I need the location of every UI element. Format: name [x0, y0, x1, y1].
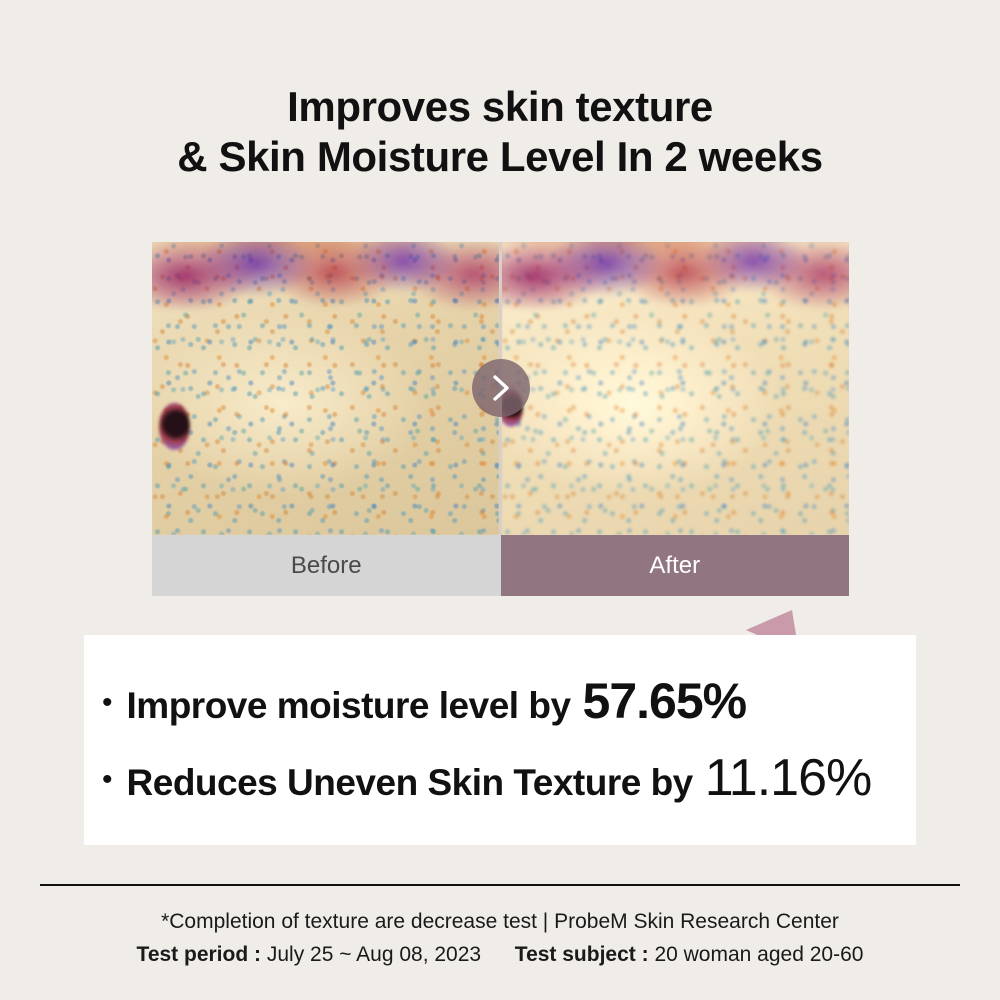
claim-value-texture: 11.16% [705, 748, 872, 808]
comparison-labels: Before After [152, 535, 849, 596]
page-title: Improves skin texture & Skin Moisture Le… [0, 82, 1000, 181]
footer: *Completion of texture are decrease test… [0, 906, 1000, 971]
footer-test-details: Test period : July 25 ~ Aug 08, 2023 Tes… [0, 938, 1000, 972]
claim-row-moisture: • Improve moisture level by 57.65% [102, 672, 916, 730]
claim-row-texture: • Reduces Uneven Skin Texture by 11.16% [102, 748, 916, 808]
before-after-comparison: Before After [152, 242, 849, 596]
after-photo [502, 242, 849, 535]
test-subject-label: Test subject : [515, 943, 649, 966]
claims-card: • Improve moisture level by 57.65% • Red… [84, 635, 916, 845]
footer-disclaimer: *Completion of texture are decrease test… [0, 906, 1000, 938]
test-period-label: Test period : [137, 943, 261, 966]
skin-pore-before [159, 403, 190, 450]
skin-vessel-band-before [152, 242, 502, 309]
test-subject-value: 20 woman aged 20-60 [654, 943, 863, 966]
claim-bullet: • [102, 765, 113, 795]
footer-divider [40, 884, 960, 886]
test-period-value: July 25 ~ Aug 08, 2023 [267, 943, 481, 966]
claim-label-texture: Reduces Uneven Skin Texture by [127, 762, 693, 804]
claim-value-moisture: 57.65% [583, 672, 747, 730]
claim-label-moisture: Improve moisture level by [127, 685, 571, 727]
chevron-right-icon[interactable] [472, 359, 530, 417]
skin-vessel-band-after [502, 242, 849, 309]
after-label: After [501, 535, 850, 596]
title-line-1: Improves skin texture [0, 82, 1000, 132]
claim-bullet: • [102, 688, 113, 718]
before-label: Before [152, 535, 501, 596]
title-line-2: & Skin Moisture Level In 2 weeks [0, 132, 1000, 182]
before-photo [152, 242, 502, 535]
